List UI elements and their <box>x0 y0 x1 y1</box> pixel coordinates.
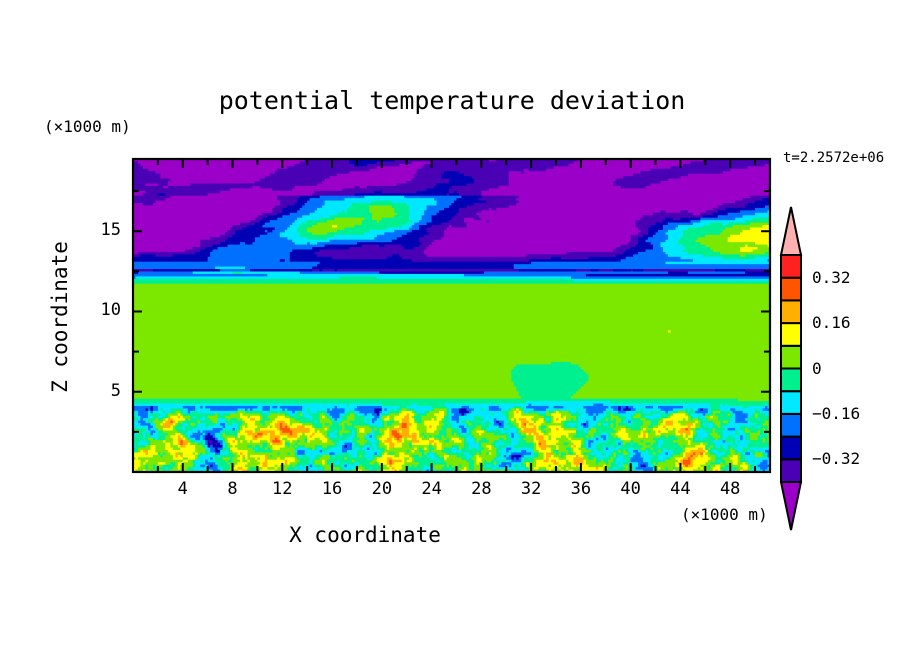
x-tick-label: 16 <box>312 479 352 499</box>
y-axis-units-label: (×1000 m) <box>44 117 131 136</box>
page-title: potential temperature deviation <box>0 86 904 115</box>
colorbar[interactable] <box>775 200 815 540</box>
x-tick-label: 32 <box>511 479 551 499</box>
colorbar-tick-label: 0.16 <box>812 313 851 332</box>
colorbar-tick-label: −0.16 <box>812 404 860 423</box>
x-tick-label: 28 <box>461 479 501 499</box>
x-tick-label: 20 <box>362 479 402 499</box>
colorbar-tick-label: 0 <box>812 359 822 378</box>
time-annotation: t=2.2572e+06 <box>783 150 884 166</box>
colorbar-tick-label: −0.32 <box>812 449 860 468</box>
y-axis-title: Z coordinate <box>48 197 72 437</box>
x-tick-label: 8 <box>213 479 253 499</box>
x-tick-label: 24 <box>412 479 452 499</box>
x-tick-label: 4 <box>163 479 203 499</box>
plot-frame <box>131 157 772 519</box>
x-tick-label: 36 <box>561 479 601 499</box>
x-tick-label: 44 <box>660 479 700 499</box>
y-tick-label: 10 <box>81 300 121 320</box>
x-tick-label: 12 <box>262 479 302 499</box>
y-tick-label: 15 <box>81 220 121 240</box>
x-tick-label: 40 <box>611 479 651 499</box>
figure-canvas: potential temperature deviation (×1000 m… <box>0 0 904 654</box>
x-tick-label: 48 <box>710 479 750 499</box>
colorbar-tick-label: 0.32 <box>812 268 851 287</box>
y-tick-label: 5 <box>81 381 121 401</box>
x-axis-title: X coordinate <box>0 523 730 547</box>
